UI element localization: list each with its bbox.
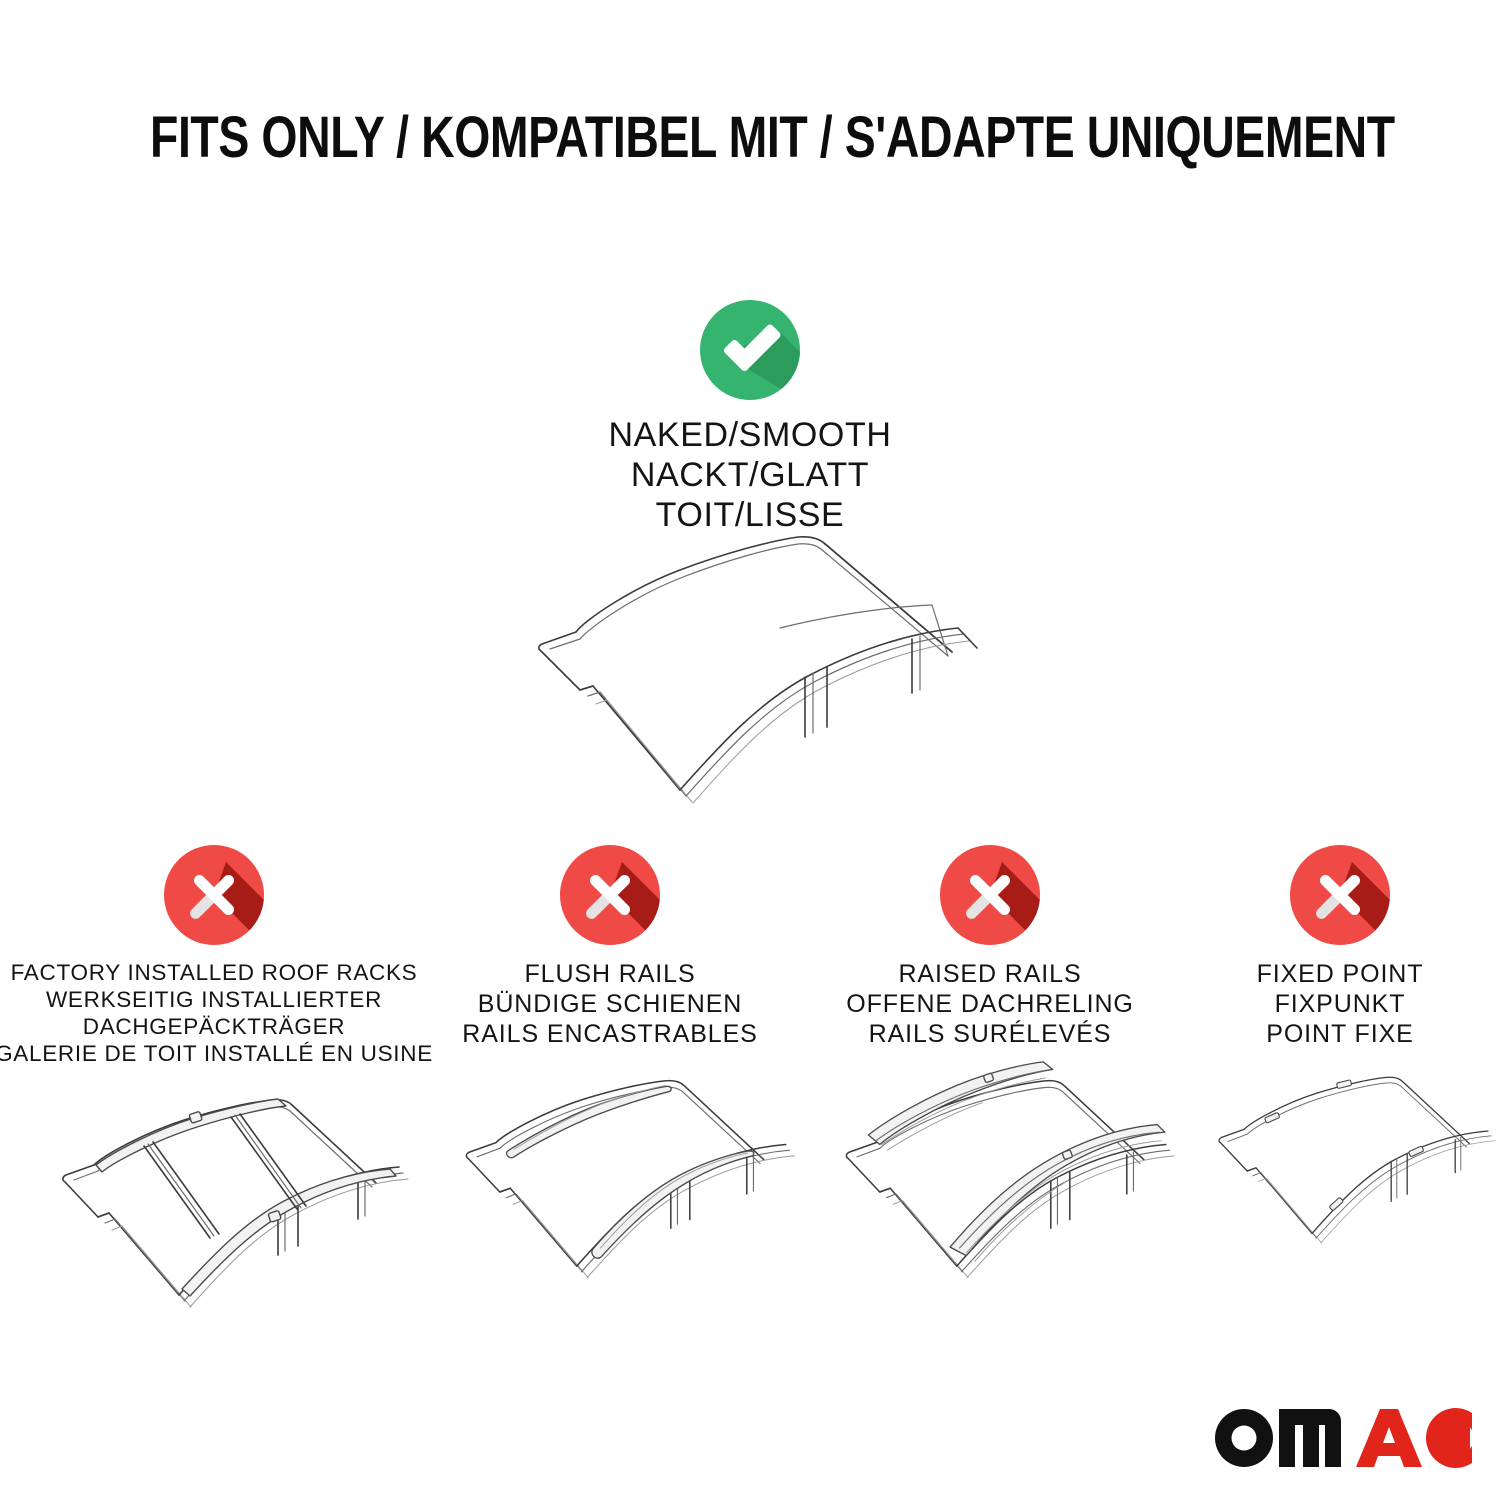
caption-line: BÜNDIGE SCHIENEN: [462, 989, 757, 1019]
caption-line: RAILS SURÉLEVÉS: [846, 1019, 1134, 1049]
car-roof-factory-roof-racks-illustration: [8, 1077, 420, 1307]
car-roof-naked-smooth-illustration: [480, 515, 1040, 815]
compatible-section: NAKED/SMOOTH NACKT/GLATT TOIT/LISSE: [0, 300, 1500, 535]
caption-line: RAISED RAILS: [846, 959, 1134, 989]
incompatible-caption: RAISED RAILS OFFENE DACHRELING RAILS SUR…: [846, 959, 1134, 1049]
caption-line: DACHGEPÄCKTRÄGER: [0, 1013, 433, 1040]
car-roof-fixed-point-illustration: [1180, 1059, 1500, 1289]
incompatible-caption: FIXED POINT FIXPUNKT POINT FIXE: [1257, 959, 1424, 1049]
x-circle-icon: [164, 845, 264, 945]
incompatible-item-factory-roof-racks: FACTORY INSTALLED ROOF RACKS WERKSEITIG …: [0, 845, 420, 1307]
incompatible-item-fixed-point: FIXED POINT FIXPUNKT POINT FIXE: [1180, 845, 1500, 1289]
caption-line: NACKT/GLATT: [608, 455, 891, 495]
caption-line: WERKSEITIG INSTALLIERTER: [0, 986, 433, 1013]
caption-line: FLUSH RAILS: [462, 959, 757, 989]
logo-letter-m: [1279, 1409, 1341, 1467]
logo-letter-a: [1356, 1409, 1422, 1467]
caption-line: FIXED POINT: [1257, 959, 1424, 989]
x-circle-icon: [560, 845, 660, 945]
omac-logo: [1208, 1398, 1472, 1470]
incompatible-section: FACTORY INSTALLED ROOF RACKS WERKSEITIG …: [0, 845, 1500, 1307]
car-roof-flush-rails-illustration: [420, 1059, 800, 1289]
x-circle-icon: [1290, 845, 1390, 945]
logo-letter-o: [1215, 1409, 1273, 1467]
page-title: FITS ONLY / KOMPATIBEL MIT / S'ADAPTE UN…: [150, 103, 1350, 173]
incompatible-item-flush-rails: FLUSH RAILS BÜNDIGE SCHIENEN RAILS ENCAS…: [420, 845, 800, 1289]
incompatible-caption: FLUSH RAILS BÜNDIGE SCHIENEN RAILS ENCAS…: [462, 959, 757, 1049]
car-roof-raised-rails-illustration: [800, 1059, 1180, 1289]
caption-line: RAILS ENCASTRABLES: [462, 1019, 757, 1049]
logo-letter-c: [1426, 1408, 1472, 1468]
incompatible-caption: FACTORY INSTALLED ROOF RACKS WERKSEITIG …: [0, 959, 433, 1067]
caption-line: OFFENE DACHRELING: [846, 989, 1134, 1019]
caption-line: NAKED/SMOOTH: [608, 415, 891, 455]
caption-line: POINT FIXE: [1257, 1019, 1424, 1049]
incompatible-item-raised-rails: RAISED RAILS OFFENE DACHRELING RAILS SUR…: [800, 845, 1180, 1289]
caption-line: FACTORY INSTALLED ROOF RACKS: [0, 959, 433, 986]
x-circle-icon: [940, 845, 1040, 945]
check-circle-icon: [700, 300, 800, 400]
caption-line: GALERIE DE TOIT INSTALLÉ EN USINE: [0, 1040, 433, 1067]
caption-line: FIXPUNKT: [1257, 989, 1424, 1019]
